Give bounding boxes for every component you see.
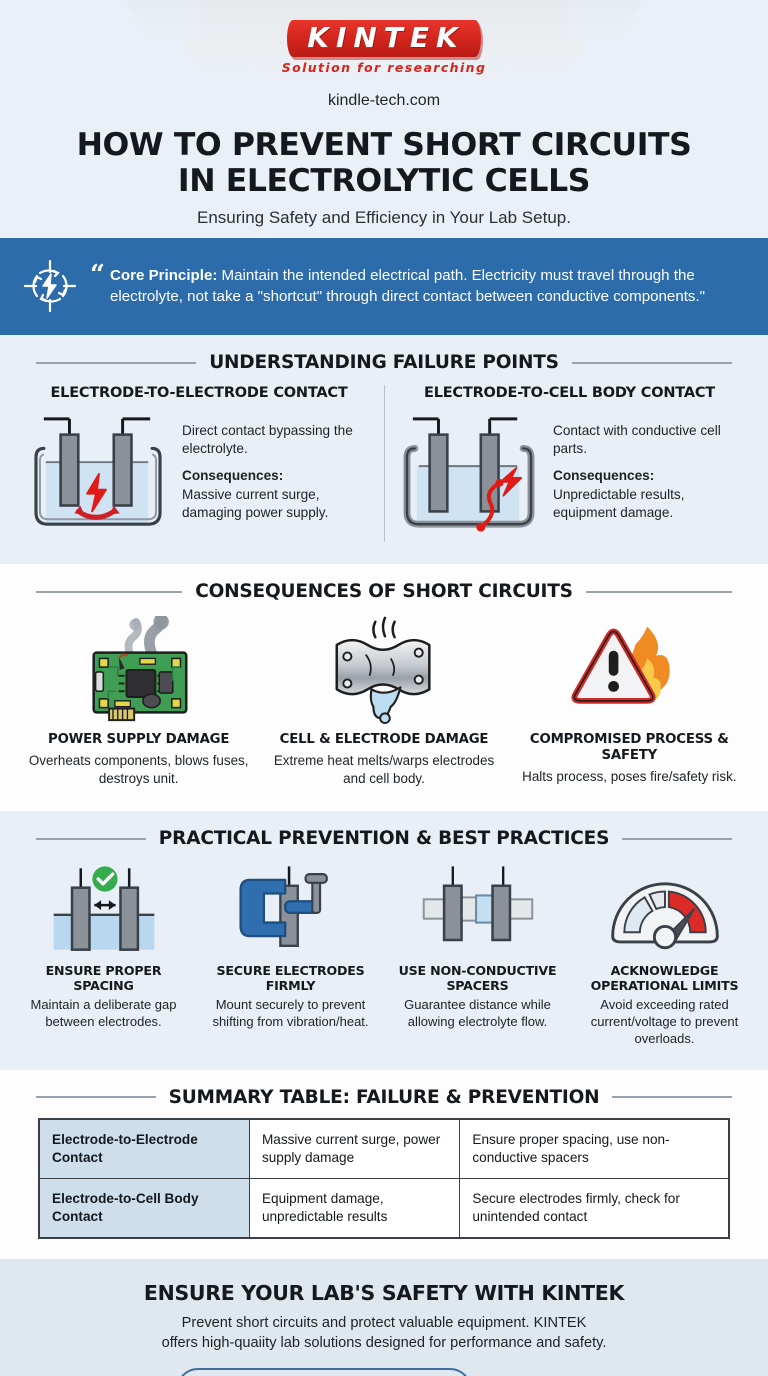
cta-row: CONTACT OUR TEAM TODAY ↗ kindle-tech.com (20, 1368, 748, 1376)
summary-heading-text: SUMMARY TABLE: FAILURE & PREVENTION (169, 1087, 600, 1108)
table-cell-consequence: Equipment damage, unpredictable results (249, 1178, 459, 1237)
non-conductive-spacer-icon (390, 861, 565, 957)
heading-rule-right (612, 1096, 732, 1098)
site-url-top: kindle-tech.com (0, 92, 768, 110)
failure-item-electrode-to-cell-body: ELECTRODE-TO-CELL BODY CONTACT (384, 385, 754, 542)
page-subtitle: Ensuring Safety and Efficiency in Your L… (0, 208, 768, 228)
prevention-item-secure: SECURE ELECTRODES FIRMLY Mount securely … (197, 861, 384, 1031)
core-principle-banner: “Core Principle: Maintain the intended e… (0, 238, 768, 335)
failure-item-electrode-to-electrode: ELECTRODE-TO-ELECTRODE CONTACT (14, 385, 384, 542)
consequences-section: CONSEQUENCES OF SHORT CIRCUITS (0, 564, 768, 811)
prevention-section: PRACTICAL PREVENTION & BEST PRACTICES (0, 811, 768, 1070)
summary-section-heading: SUMMARY TABLE: FAILURE & PREVENTION (0, 1070, 768, 1116)
failure-item-text: Direct contact bypassing the electrolyte… (182, 422, 374, 530)
consequence-item-compromised-process: COMPROMISED PROCESS & SAFETY Halts proce… (507, 616, 752, 786)
prevention-section-heading: PRACTICAL PREVENTION & BEST PRACTICES (0, 811, 768, 857)
table-cell-failure: Electrode-to-Electrode Contact (39, 1119, 249, 1178)
prevention-item-spacing: ENSURE PROPER SPACING Maintain a deliber… (10, 861, 197, 1031)
header: KINTEK Solution for researching kindle-t… (0, 0, 768, 238)
page-title: HOW TO PREVENT SHORT CIRCUITS IN ELECTRO… (0, 128, 768, 199)
failure-item-desc: Direct contact bypassing the electrolyte… (182, 422, 374, 458)
c-clamp-icon (203, 861, 378, 957)
prevention-desc: Guarantee distance while allowing electr… (390, 997, 565, 1031)
logo-wordmark: KINTEK (303, 23, 464, 53)
infographic-page: KINTEK Solution for researching kindle-t… (0, 0, 768, 1376)
beaker-electrode-contact-icon (24, 411, 172, 542)
failure-consequences-text: Unpredictable results, equipment damage. (553, 487, 684, 520)
consequence-title: CELL & ELECTRODE DAMAGE (269, 732, 498, 748)
footer-sub-line1: Prevent short circuits and protect valua… (20, 1313, 748, 1333)
footer-cta-section: ENSURE YOUR LAB'S SAFETY WITH KINTEK Pre… (0, 1259, 768, 1376)
brand-logo: KINTEK Solution for researching (0, 8, 768, 75)
quote-mark-icon: “ (90, 262, 105, 288)
energy-cycle-icon (24, 260, 76, 312)
prevention-desc: Maintain a deliberate gap between electr… (16, 997, 191, 1031)
circuit-board-smoking-icon (24, 616, 253, 724)
consequence-desc: Halts process, poses fire/safety risk. (515, 768, 744, 785)
failure-consequences-text: Massive current surge, damaging power su… (182, 487, 328, 520)
prevention-title: USE NON-CONDUCTIVE SPACERS (390, 963, 565, 993)
table-cell-failure: Electrode-to-Cell Body Contact (39, 1178, 249, 1237)
footer-title: ENSURE YOUR LAB'S SAFETY WITH KINTEK (20, 1281, 748, 1305)
prevention-desc: Avoid exceeding rated current/voltage to… (577, 997, 752, 1048)
consequence-desc: Extreme heat melts/warps electrodes and … (269, 752, 498, 787)
prevention-item-spacers: USE NON-CONDUCTIVE SPACERS Guarantee dis… (384, 861, 571, 1031)
summary-table: Electrode-to-Electrode Contact Massive c… (38, 1118, 730, 1239)
consequence-item-power-supply: POWER SUPPLY DAMAGE Overheats components… (16, 616, 261, 787)
beaker-cell-body-contact-icon (395, 411, 543, 542)
failure-items-row: ELECTRODE-TO-ELECTRODE CONTACT (0, 381, 768, 560)
heading-rule-right (586, 591, 732, 593)
heading-rule-left (36, 838, 146, 840)
failure-consequences-label: Consequences: (182, 468, 283, 483)
failure-section-heading: UNDERSTANDING FAILURE POINTS (0, 335, 768, 381)
consequence-item-cell-electrode: CELL & ELECTRODE DAMAGE Extreme heat mel… (261, 616, 506, 787)
prevention-title: ACKNOWLEDGE OPERATIONAL LIMITS (577, 963, 752, 993)
heading-rule-right (622, 838, 732, 840)
heading-rule-left (36, 362, 196, 364)
core-principle-label: Core Principle: (110, 267, 217, 284)
heading-rule-left (36, 1096, 156, 1098)
consequences-items-row: POWER SUPPLY DAMAGE Overheats components… (0, 610, 768, 807)
footer-subtitle: Prevent short circuits and protect valua… (20, 1313, 748, 1353)
prevention-heading-text: PRACTICAL PREVENTION & BEST PRACTICES (159, 828, 609, 849)
failure-points-section: UNDERSTANDING FAILURE POINTS ELECTRODE-T… (0, 335, 768, 564)
page-title-line2: IN ELECTROLYTIC CELLS (22, 164, 746, 199)
page-title-line1: HOW TO PREVENT SHORT CIRCUITS (22, 128, 746, 163)
consequences-heading-text: CONSEQUENCES OF SHORT CIRCUITS (195, 581, 573, 602)
melting-metal-plate-icon (269, 616, 498, 724)
contact-cta-button[interactable]: CONTACT OUR TEAM TODAY ↗ (176, 1368, 472, 1376)
heading-rule-right (572, 362, 732, 364)
failure-item-title: ELECTRODE-TO-CELL BODY CONTACT (395, 385, 744, 401)
prevention-title: ENSURE PROPER SPACING (16, 963, 191, 993)
footer-sub-line2: offers high-quaiity lab solutions design… (20, 1333, 748, 1353)
heading-rule-left (36, 591, 182, 593)
logo-tagline: Solution for researching (0, 60, 768, 75)
electrode-spacing-check-icon (16, 861, 191, 957)
core-principle-text: “Core Principle: Maintain the intended e… (90, 265, 744, 308)
prevention-desc: Mount securely to prevent shifting from … (203, 997, 378, 1031)
summary-table-section: SUMMARY TABLE: FAILURE & PREVENTION Elec… (0, 1070, 768, 1259)
summary-table-wrap: Electrode-to-Electrode Contact Massive c… (0, 1116, 768, 1255)
prevention-title: SECURE ELECTRODES FIRMLY (203, 963, 378, 993)
failure-item-desc: Contact with conductive cell parts. (553, 422, 744, 458)
gauge-meter-icon (577, 861, 752, 957)
consequence-title: COMPROMISED PROCESS & SAFETY (515, 732, 744, 764)
prevention-items-row: ENSURE PROPER SPACING Maintain a deliber… (0, 857, 768, 1066)
warning-triangle-fire-icon (515, 616, 744, 724)
failure-item-title: ELECTRODE-TO-ELECTRODE CONTACT (24, 385, 374, 401)
consequence-title: POWER SUPPLY DAMAGE (24, 732, 253, 748)
table-cell-prevention: Ensure proper spacing, use non-conductiv… (460, 1119, 729, 1178)
consequence-desc: Overheats components, blows fuses, destr… (24, 752, 253, 787)
table-row: Electrode-to-Cell Body Contact Equipment… (39, 1178, 729, 1237)
table-cell-consequence: Massive current surge, power supply dama… (249, 1119, 459, 1178)
consequences-section-heading: CONSEQUENCES OF SHORT CIRCUITS (0, 564, 768, 610)
prevention-item-limits: ACKNOWLEDGE OPERATIONAL LIMITS Avoid exc… (571, 861, 758, 1048)
table-row: Electrode-to-Electrode Contact Massive c… (39, 1119, 729, 1178)
failure-item-text: Contact with conductive cell parts. Cons… (553, 422, 744, 530)
failure-heading-text: UNDERSTANDING FAILURE POINTS (209, 352, 559, 373)
table-cell-prevention: Secure electrodes firmly, check for unin… (460, 1178, 729, 1237)
failure-consequences-label: Consequences: (553, 468, 654, 483)
logo-plate: KINTEK (287, 20, 480, 57)
